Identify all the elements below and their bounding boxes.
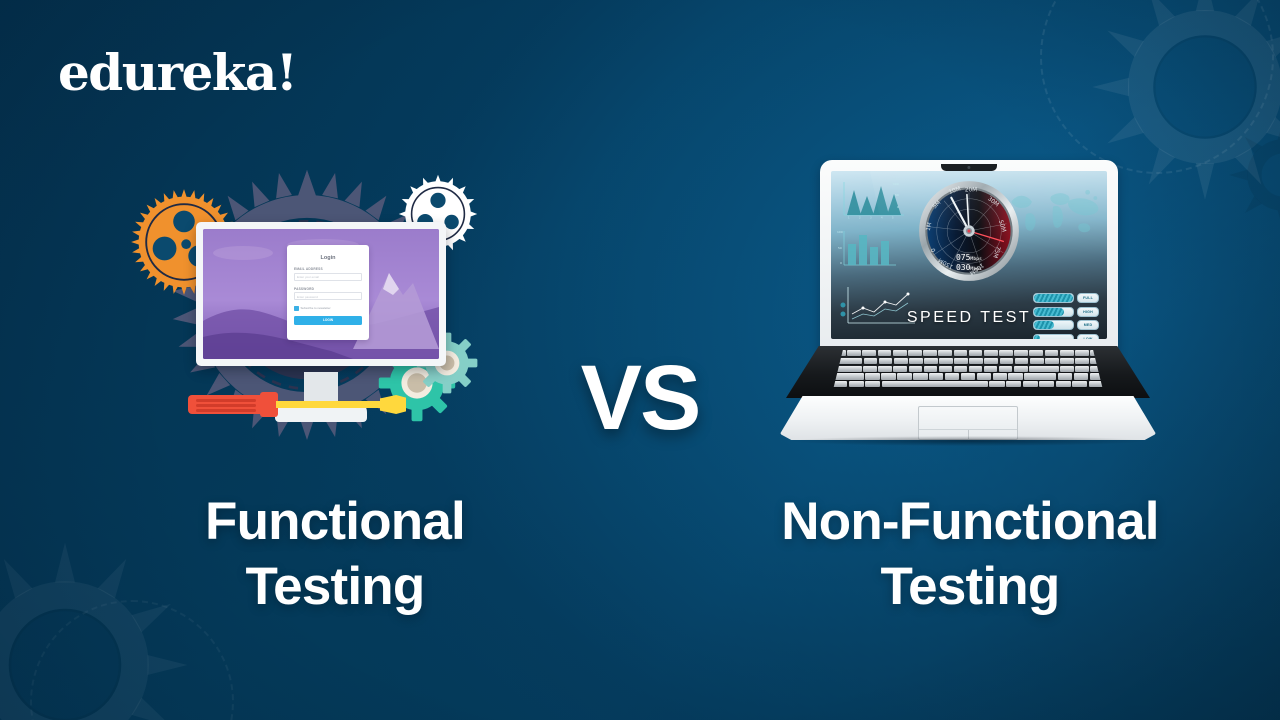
non-functional-testing-illustration: 100500 123 45 bbox=[778, 160, 1158, 460]
webcam-icon bbox=[967, 166, 970, 169]
email-label: EMAIL ADDRESS bbox=[294, 267, 362, 271]
checkbox-icon[interactable] bbox=[294, 306, 299, 311]
password-field[interactable]: Enter password bbox=[294, 292, 362, 300]
svg-text:2: 2 bbox=[859, 216, 861, 220]
password-label: PASSWORD bbox=[294, 287, 362, 291]
vs-label: VS bbox=[566, 352, 714, 444]
screen-glare bbox=[863, 171, 1107, 339]
laptop-keyboard[interactable] bbox=[832, 350, 1104, 394]
laptop-screen: 100500 123 45 bbox=[831, 171, 1107, 339]
email-field[interactable]: Enter your email bbox=[294, 273, 362, 281]
edureka-logo[interactable]: edureka! bbox=[58, 48, 296, 98]
keyboard-row bbox=[832, 358, 1104, 364]
keyboard-row bbox=[832, 366, 1104, 372]
keyboard-row bbox=[832, 373, 1104, 379]
screwdriver-handle bbox=[188, 395, 264, 414]
laptop-camera-bar bbox=[941, 164, 997, 171]
laptop-shadow bbox=[792, 436, 1144, 446]
svg-text:0: 0 bbox=[840, 261, 842, 265]
laptop-trackpad[interactable] bbox=[918, 406, 1018, 440]
svg-text:50: 50 bbox=[838, 246, 842, 250]
screwdriver-shaft bbox=[276, 401, 384, 408]
svg-text:1: 1 bbox=[848, 216, 850, 220]
laptop-lid: 100500 123 45 bbox=[820, 160, 1118, 353]
monitor-screen: Login EMAIL ADDRESS Enter your email PAS… bbox=[203, 229, 439, 359]
login-card: Login EMAIL ADDRESS Enter your email PAS… bbox=[287, 245, 369, 340]
left-caption-line2: Testing bbox=[80, 555, 590, 620]
login-title: Login bbox=[294, 255, 362, 261]
screwdriver-icon bbox=[188, 390, 418, 420]
right-caption-line2: Testing bbox=[700, 555, 1240, 620]
svg-text:100: 100 bbox=[837, 230, 843, 234]
right-caption: Non-Functional Testing bbox=[700, 490, 1240, 619]
slide-canvas: edureka! bbox=[0, 0, 1280, 720]
functional-testing-illustration: Login EMAIL ADDRESS Enter your email PAS… bbox=[130, 160, 510, 470]
svg-text:3: 3 bbox=[870, 216, 872, 220]
login-submit-button[interactable]: LOGIN bbox=[294, 316, 362, 325]
monitor-bezel: Login EMAIL ADDRESS Enter your email PAS… bbox=[196, 222, 446, 366]
left-caption: Functional Testing bbox=[80, 490, 590, 619]
left-caption-line1: Functional bbox=[205, 492, 465, 551]
screwdriver-tip bbox=[380, 395, 406, 414]
keyboard-row bbox=[832, 381, 1104, 387]
newsletter-checkbox-row[interactable]: Subscribe to newsletter bbox=[294, 306, 362, 311]
desktop-monitor: Login EMAIL ADDRESS Enter your email PAS… bbox=[196, 222, 446, 412]
right-caption-line1: Non-Functional bbox=[781, 492, 1158, 551]
keyboard-row bbox=[832, 350, 1104, 356]
newsletter-label: Subscribe to newsletter bbox=[301, 306, 331, 310]
